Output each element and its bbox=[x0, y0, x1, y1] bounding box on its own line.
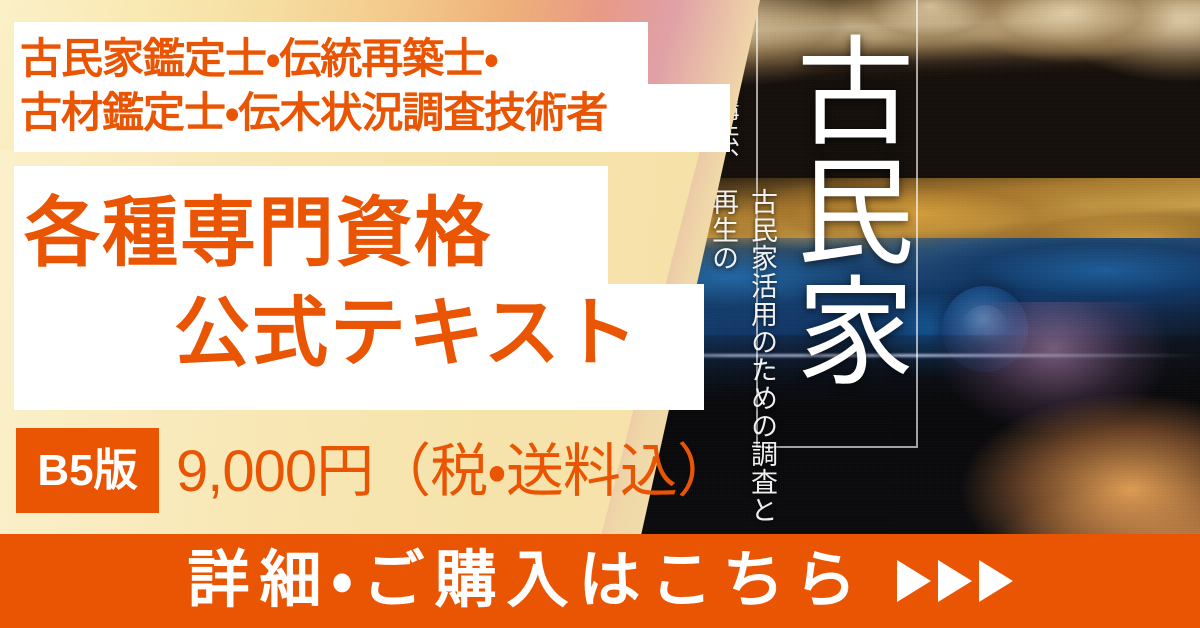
qualifications-line-2: 古材鑑定士・伝木状況調査技術者 bbox=[20, 92, 607, 134]
size-badge: B5版 bbox=[16, 428, 159, 513]
price-text: 9,000円（税・送料込） bbox=[176, 437, 734, 507]
triangle-right-icon bbox=[938, 560, 972, 602]
qualifications-line-1: 古民家鑑定士・伝統再築士・ bbox=[20, 38, 498, 80]
headline-line-1: 各種専門資格 bbox=[24, 196, 492, 272]
triangle-right-icon bbox=[897, 560, 931, 602]
headline-line-2: 公式テキスト bbox=[174, 296, 640, 372]
cta-button[interactable]: 詳細・ご購入はこちら bbox=[0, 534, 1200, 628]
triangle-right-icon bbox=[979, 560, 1013, 602]
cta-arrow-group bbox=[897, 560, 1013, 602]
size-badge-label: B5版 bbox=[37, 449, 137, 493]
book-cover-title: 古民家 bbox=[766, 10, 906, 410]
cta-label: 詳細・ご購入はこちら bbox=[187, 550, 866, 612]
promo-banner: 古民家 伝統構法、 古民家活用のための調査と再生の 古民家鑑定士・伝統再築士・ … bbox=[0, 0, 1200, 628]
